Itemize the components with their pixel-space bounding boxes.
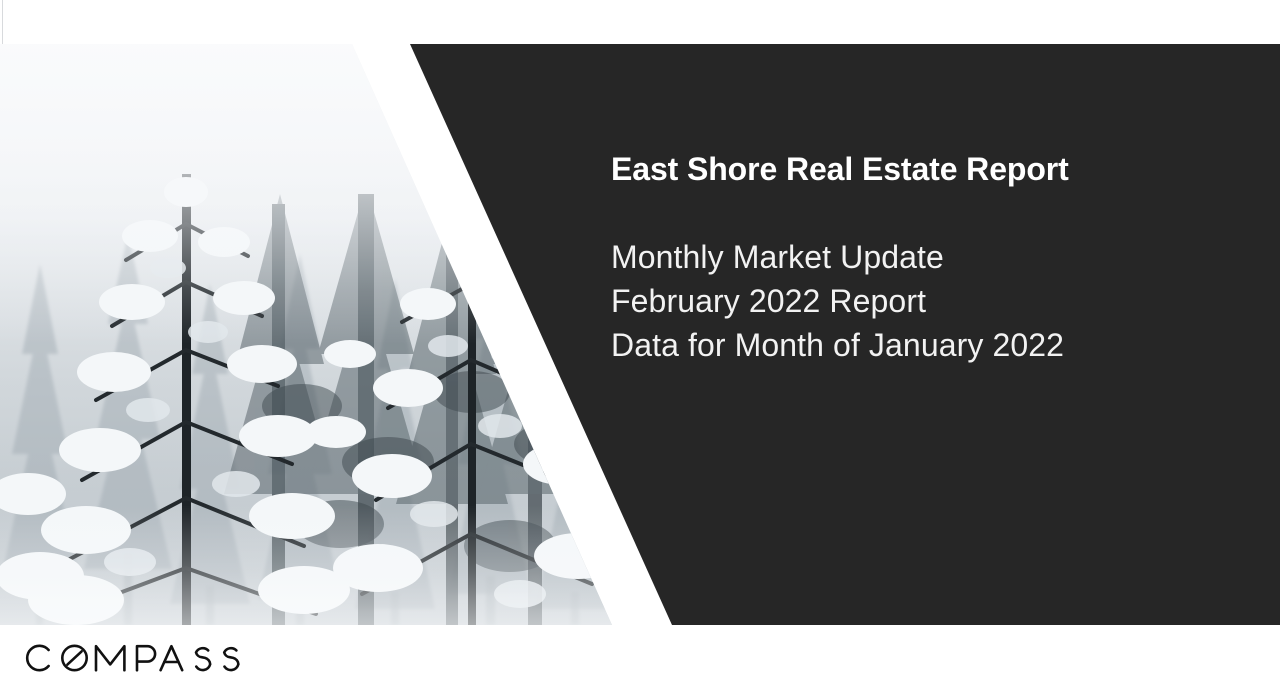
slide-canvas: East Shore Real Estate Report Monthly Ma… [0, 0, 1280, 700]
compass-logo [24, 643, 264, 673]
slide-content-band: East Shore Real Estate Report Monthly Ma… [0, 44, 1280, 625]
subtitle-list: Monthly Market Update February 2022 Repo… [611, 235, 1064, 367]
subtitle-line-3: Data for Month of January 2022 [611, 323, 1064, 367]
compass-wordmark-icon [24, 643, 264, 673]
subtitle-line-2: February 2022 Report [611, 279, 1064, 323]
subtitle-line-1: Monthly Market Update [611, 235, 1064, 279]
page-title: East Shore Real Estate Report [611, 149, 1069, 189]
